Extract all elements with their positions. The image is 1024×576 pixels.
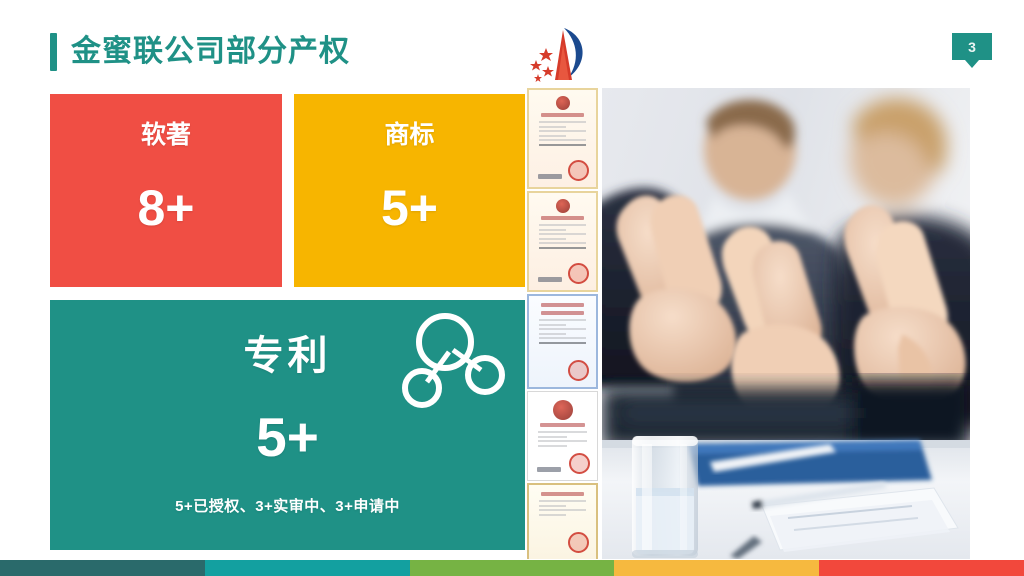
certificate-text-line <box>539 247 586 249</box>
stat-card-label: 商标 <box>384 123 434 148</box>
bottom-bar-segment-4 <box>614 560 819 576</box>
certificate-signature <box>538 174 562 179</box>
certificate-text-line <box>539 505 566 507</box>
certificate-emblem-icon <box>553 400 573 420</box>
certificate-seal-icon <box>569 453 590 474</box>
certificate-seal-icon <box>568 160 589 181</box>
stat-card-value: 5+ <box>256 410 319 465</box>
stat-card-software-copyright[interactable]: 软著 8+ <box>50 94 282 287</box>
page-number-badge: 3 <box>952 33 992 68</box>
stat-card-trademark[interactable]: 商标 5+ <box>294 94 525 287</box>
certificate-title-line <box>540 423 585 427</box>
stat-card-value: 8+ <box>137 183 194 233</box>
stat-card-value: 5+ <box>381 183 438 233</box>
patent-office-logo <box>524 22 602 88</box>
certificate-thumbnail-2[interactable] <box>527 191 598 292</box>
certificate-seal-icon <box>568 263 589 284</box>
certificate-text-line <box>539 514 566 516</box>
certificate-seal-icon <box>568 360 589 381</box>
certificate-emblem-icon <box>556 199 570 213</box>
certificate-text-line <box>539 333 566 335</box>
certificate-signature <box>537 467 561 472</box>
certificate-seal-icon <box>568 532 589 553</box>
certificate-signature <box>538 277 562 282</box>
certificate-text-line <box>538 431 587 433</box>
certificate-text-line <box>539 328 586 330</box>
certificate-text-line <box>539 126 566 128</box>
molecule-icon <box>397 308 507 413</box>
page-title: 金蜜联公司部分产权 <box>71 37 350 67</box>
certificate-text-line <box>539 121 586 123</box>
certificate-title-line <box>541 216 584 220</box>
certificate-emblem-icon <box>556 96 570 110</box>
title-accent-bar <box>50 33 57 71</box>
certificate-title-line <box>541 492 584 496</box>
certificate-thumbnail-5[interactable] <box>527 483 598 559</box>
certificate-text-line <box>539 500 586 502</box>
slide-canvas: 金蜜联公司部分产权 3 软著 8+ 商标 5+ 专利 5+ 5+已授权、3+实审… <box>0 0 1024 576</box>
slide-title-row: 金蜜联公司部分产权 <box>50 30 350 74</box>
page-number-value: 3 <box>952 33 992 60</box>
certificate-title-line <box>541 303 584 307</box>
business-people-applauding-photo <box>602 88 970 559</box>
certificate-text-line <box>539 233 586 235</box>
stat-card-label: 专利 <box>244 336 332 376</box>
page-number-badge-tail <box>965 60 979 68</box>
bottom-bar-segment-2 <box>205 560 410 576</box>
certificate-text-line <box>539 337 586 339</box>
stat-card-patent[interactable]: 专利 5+ 5+已授权、3+实审中、3+申请中 <box>50 300 525 550</box>
certificate-text-line <box>538 440 587 442</box>
certificate-text-line <box>539 342 586 344</box>
certificate-text-line <box>539 242 586 244</box>
bottom-bar-segment-1 <box>0 560 205 576</box>
certificate-text-line <box>539 135 566 137</box>
certificate-title-line <box>541 311 584 315</box>
certificate-text-line <box>539 224 586 226</box>
certificate-text-line <box>539 229 566 231</box>
certificate-text-line <box>539 130 586 132</box>
certificate-thumbnail-1[interactable] <box>527 88 598 189</box>
bottom-bar-segment-3 <box>410 560 615 576</box>
certificate-text-line <box>539 319 586 321</box>
certificate-thumbnail-3[interactable] <box>527 294 598 389</box>
bottom-color-bar <box>0 560 1024 576</box>
certificate-thumbnail-column[interactable] <box>527 88 598 559</box>
certificate-text-line <box>539 144 586 146</box>
stat-card-caption: 5+已授权、3+实审中、3+申请中 <box>175 495 400 516</box>
certificate-text-line <box>539 139 586 141</box>
certificate-text-line <box>539 238 566 240</box>
certificate-text-line <box>539 324 566 326</box>
certificate-thumbnail-4[interactable] <box>527 391 598 481</box>
certificate-text-line <box>538 436 567 438</box>
certificate-text-line <box>539 509 586 511</box>
certificate-title-line <box>541 113 584 117</box>
certificate-text-line <box>538 445 567 447</box>
stat-card-label: 软著 <box>141 123 191 148</box>
bottom-bar-segment-5 <box>819 560 1024 576</box>
